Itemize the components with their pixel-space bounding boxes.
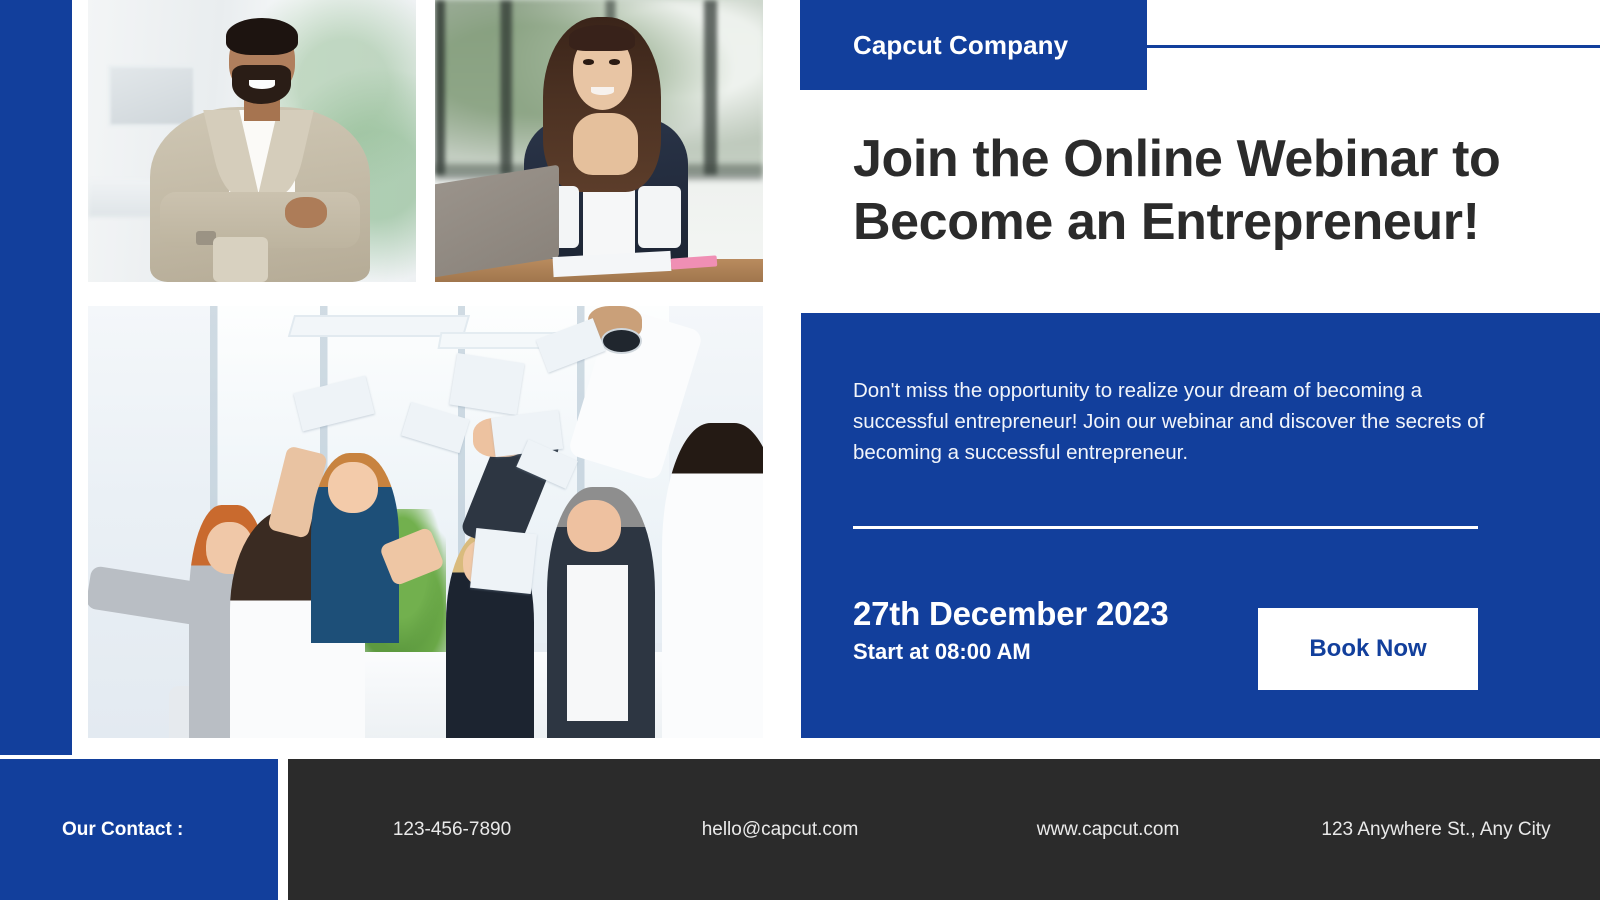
smile [591, 87, 614, 94]
panel-divider [853, 526, 1478, 529]
brand-rule-line [1118, 45, 1600, 48]
footer-item-email[interactable]: hello@capcut.com [616, 819, 944, 841]
photo-businesswoman-at-laptop [435, 0, 763, 282]
shelf-blur [108, 65, 197, 127]
footer-item-website[interactable]: www.capcut.com [944, 819, 1272, 841]
wristwatch-icon [601, 328, 642, 354]
footer-contact-list: 123-456-7890 hello@capcut.com www.capcut… [288, 819, 1600, 841]
photo-team-celebrating [88, 306, 763, 738]
person-ginger-face [328, 462, 379, 514]
flyer-page: Capcut Company Join the Online Webinar t… [0, 0, 1600, 900]
eye-right [609, 59, 620, 64]
person-bearded-man-face [567, 500, 621, 552]
brand-block: Capcut Company [800, 0, 1147, 90]
hair [226, 18, 298, 55]
footer-item-address: 123 Anywhere St., Any City [1272, 819, 1600, 841]
description-text: Don't miss the opportunity to realize yo… [853, 375, 1498, 468]
footer-contact-label-block: Our Contact : [0, 759, 278, 900]
shirt-cuff [213, 237, 269, 282]
shirt-cuff-right [638, 186, 681, 248]
left-accent-strip [0, 0, 72, 755]
fringe [569, 25, 635, 50]
person-right-white-shirt [662, 423, 763, 738]
brand-name: Capcut Company [800, 30, 1068, 61]
footer-item-phone[interactable]: 123-456-7890 [288, 819, 616, 841]
page-title: Join the Online Webinar to Become an Ent… [853, 128, 1553, 255]
event-date: 27th December 2023 [853, 595, 1169, 633]
eye-left [583, 59, 594, 64]
event-schedule: 27th December 2023 Start at 08:00 AM [853, 595, 1169, 665]
person-bearded-man-shirt [567, 565, 628, 721]
event-time: Start at 08:00 AM [853, 639, 1169, 665]
clasped-hands [573, 113, 639, 175]
book-now-button[interactable]: Book Now [1258, 608, 1478, 690]
flying-paper [449, 353, 524, 415]
footer-contact-bar: 123-456-7890 hello@capcut.com www.capcut… [288, 759, 1600, 900]
footer-contact-label: Our Contact : [0, 819, 183, 841]
hand [285, 197, 328, 228]
flying-paper [470, 528, 537, 594]
photo-businessman-arms-crossed [88, 0, 416, 282]
details-panel: Don't miss the opportunity to realize yo… [801, 313, 1600, 738]
